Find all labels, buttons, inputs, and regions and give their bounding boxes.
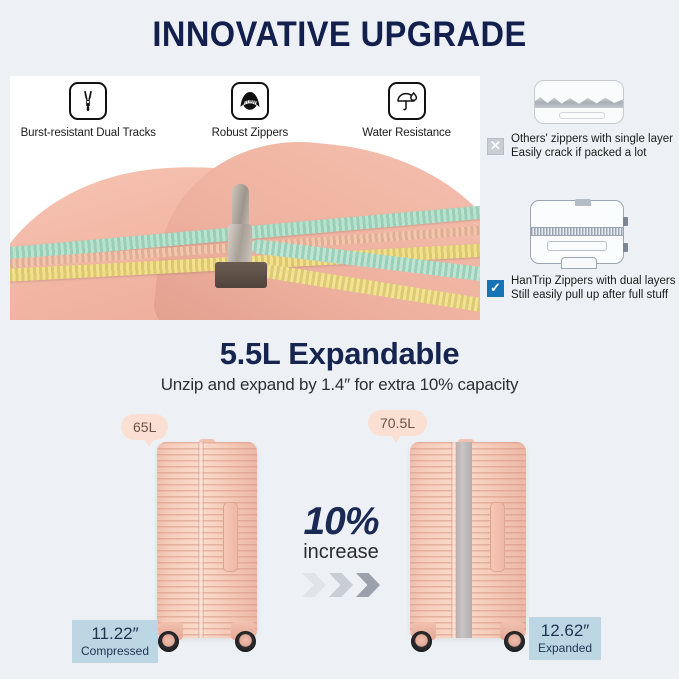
chevron-right-icon	[329, 573, 353, 597]
zipper-pull-tab	[232, 184, 249, 229]
capacity-callout-expanded: 70.5L	[368, 410, 427, 436]
spinner-wheel-right	[504, 631, 525, 652]
spinner-wheel-left	[411, 631, 432, 652]
photo-panel: Burst-resistant Dual Tracks Robust Zippe…	[10, 76, 480, 320]
suitcase-expanded	[410, 442, 526, 638]
diagram-case-outline	[534, 80, 624, 124]
suitcase-side-handle	[490, 502, 505, 572]
feature-label: Water Resistance	[362, 127, 451, 139]
measurement-value: 12.62″	[538, 621, 592, 641]
increase-label: increase	[281, 541, 401, 564]
check-icon: ✓	[487, 280, 504, 297]
expandable-heading: 5.5L Expandable	[0, 336, 679, 372]
suitcase-shell	[410, 442, 526, 638]
measurement-badge-expanded: 12.62″ Expanded	[529, 617, 601, 660]
comparison-text-row: ✕ Others' zippers with single layer Easi…	[483, 132, 673, 160]
infographic-page: INNOVATIVE UPGRADE	[0, 0, 679, 679]
diagram-dual-layer-zipper	[531, 227, 623, 236]
shark-teeth-icon	[231, 82, 269, 120]
measurement-state: Expanded	[538, 641, 592, 655]
zipper-icon	[69, 82, 107, 120]
measurement-state: Compressed	[81, 644, 149, 658]
diagram-bottom-handle	[561, 257, 597, 269]
suitcase-shell	[157, 442, 257, 638]
chevron-arrows	[286, 572, 396, 598]
spinner-wheel-left	[158, 631, 179, 652]
measurement-value: 11.22″	[81, 624, 149, 644]
comparison-line-1: Others' zippers with single layer	[511, 132, 673, 146]
feature-icon-row: Burst-resistant Dual Tracks Robust Zippe…	[10, 82, 480, 154]
diagram-front-pocket	[547, 241, 607, 251]
diagram-side-nub-bottom	[623, 243, 628, 252]
comparison-line-1: HanTrip Zippers with dual layers	[511, 274, 675, 288]
suitcase-side-handle	[223, 502, 238, 572]
suitcase-ribs	[157, 442, 257, 638]
diagram-side-nub-top	[623, 217, 628, 226]
diagram-broken-zipper-teeth	[535, 97, 623, 108]
comparison-lines: HanTrip Zippers with dual layers Still e…	[511, 274, 675, 302]
feature-item: Burst-resistant Dual Tracks	[10, 82, 167, 139]
feature-label: Burst-resistant Dual Tracks	[21, 127, 156, 139]
umbrella-icon	[388, 82, 426, 120]
chevron-right-icon	[356, 573, 380, 597]
comparison-text-row: ✓ HanTrip Zippers with dual layers Still…	[483, 274, 673, 302]
suitcase-compressed	[157, 442, 257, 638]
suitcase-center-spine	[451, 442, 457, 638]
measurement-badge-compressed: 11.22″ Compressed	[72, 620, 158, 663]
spinner-wheel-right	[235, 631, 256, 652]
single-layer-zipper-diagram	[528, 78, 628, 126]
page-title: INNOVATIVE UPGRADE	[24, 14, 655, 56]
zipper-slider-plate	[215, 262, 267, 288]
suitcase-center-spine	[198, 442, 204, 638]
increase-percentage: 10%	[281, 500, 401, 544]
comparison-negative: ✕ Others' zippers with single layer Easi…	[483, 78, 673, 160]
diagram-telescopic-handle	[575, 199, 591, 206]
diagram-front-pocket	[559, 112, 605, 119]
comparison-line-2: Still easily pull up after full stuff	[511, 288, 675, 302]
capacity-callout-compressed: 65L	[121, 414, 168, 440]
suitcase-expansion-gusset	[456, 442, 472, 638]
cross-icon: ✕	[487, 138, 504, 155]
dual-layer-zipper-diagram	[520, 196, 636, 268]
chevron-right-icon	[302, 573, 326, 597]
feature-item: Water Resistance	[333, 82, 480, 139]
feature-item: Robust Zippers	[177, 82, 324, 139]
diagram-case-outline	[530, 200, 624, 264]
comparison-lines: Others' zippers with single layer Easily…	[511, 132, 673, 160]
comparison-positive: ✓ HanTrip Zippers with dual layers Still…	[483, 196, 673, 302]
feature-label: Robust Zippers	[212, 127, 289, 139]
expandable-subheading: Unzip and expand by 1.4″ for extra 10% c…	[0, 375, 679, 395]
comparison-line-2: Easily crack if packed a lot	[511, 146, 673, 160]
